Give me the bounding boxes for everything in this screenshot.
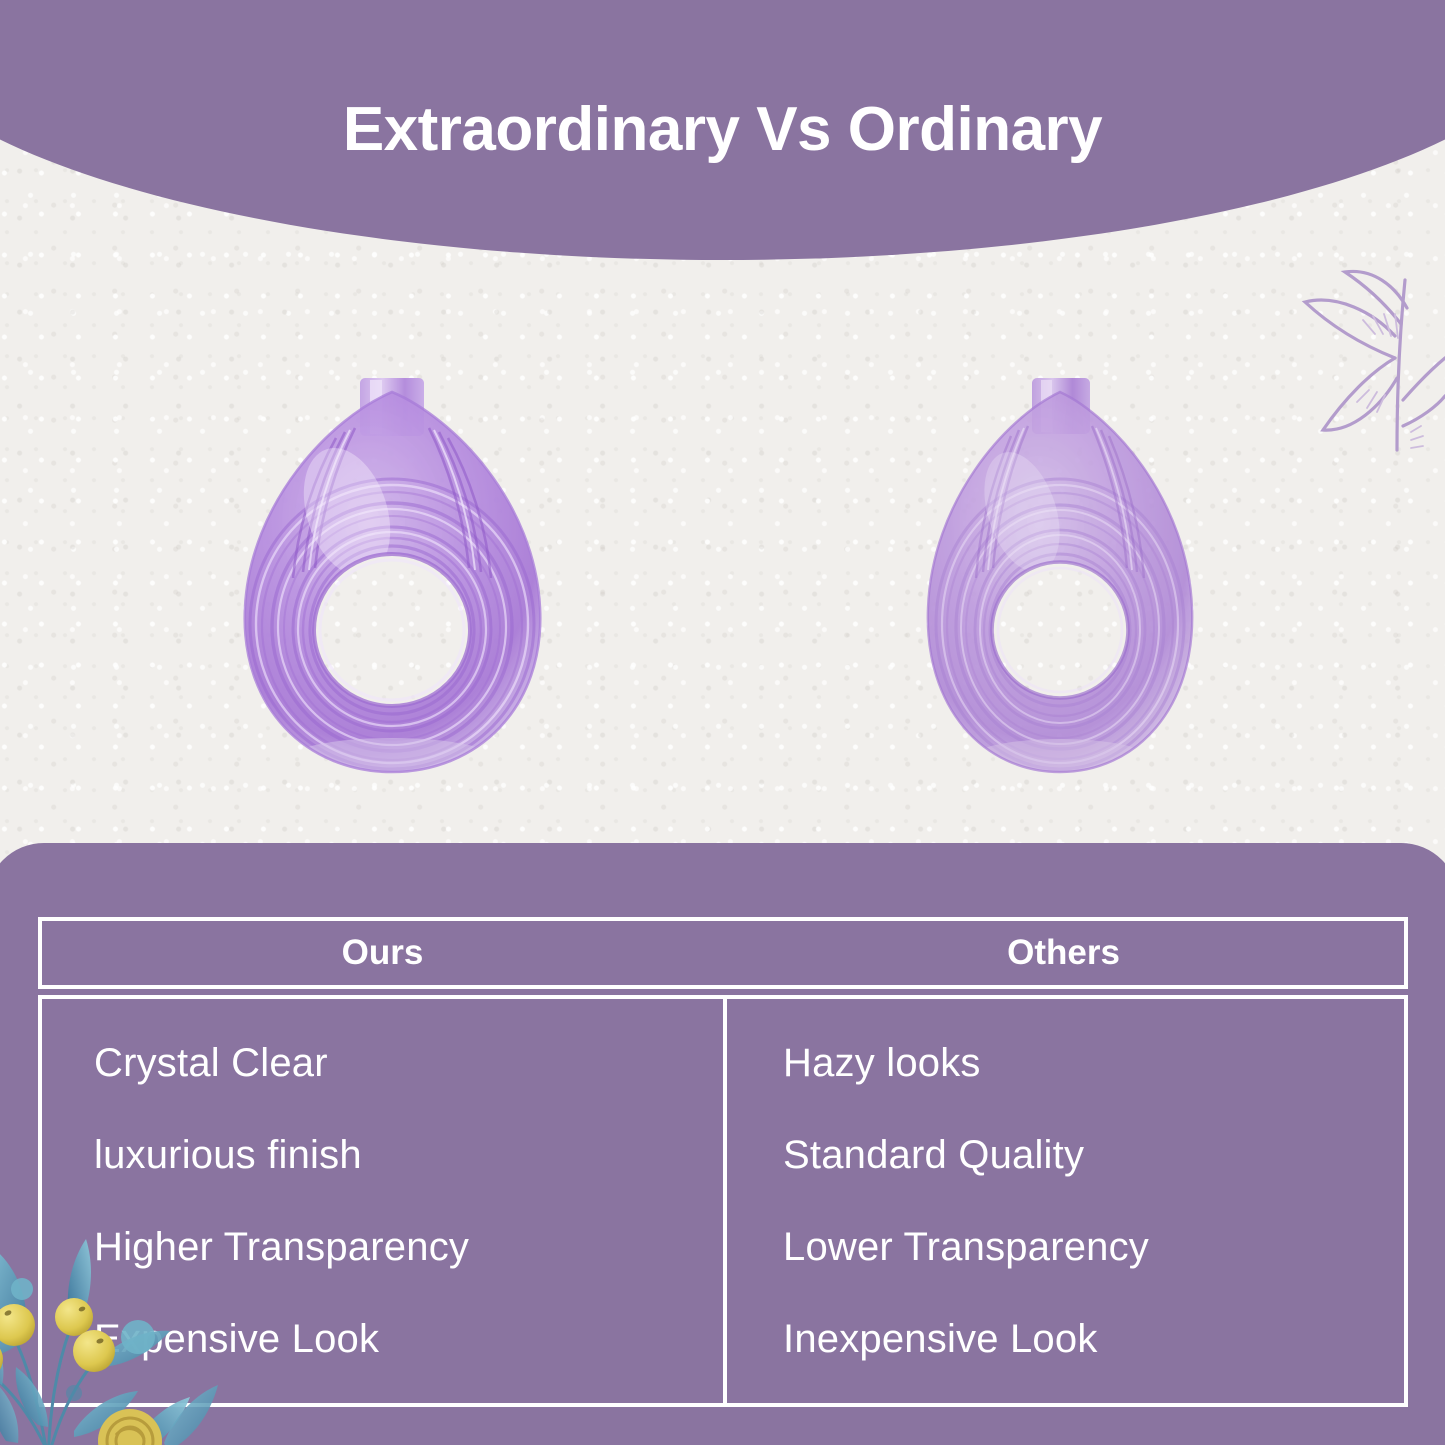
list-item: Lower Transparency [783,1225,1404,1269]
list-item: Inexpensive Look [783,1317,1404,1361]
column-header-ours: Ours [42,921,723,985]
column-header-others: Others [723,921,1404,985]
product-image-others [900,372,1220,790]
table-body: Crystal Clear luxurious finish Higher Tr… [38,995,1408,1407]
table-column-ours: Crystal Clear luxurious finish Higher Tr… [42,999,723,1403]
header-banner: Extraordinary Vs Ordinary [0,0,1445,260]
list-item: Standard Quality [783,1133,1404,1177]
list-item: luxurious finish [94,1133,723,1177]
list-item: Expensive Look [94,1317,723,1361]
list-item: Higher Transparency [94,1225,723,1269]
comparison-panel: Ours Others Crystal Clear luxurious fini… [0,843,1445,1445]
list-item: Hazy looks [783,1041,1404,1085]
product-image-ours [205,372,580,790]
list-item: Crystal Clear [94,1041,723,1085]
table-header-row: Ours Others [38,917,1408,989]
infographic-canvas: Extraordinary Vs Ordinary [0,0,1445,1445]
table-column-others: Hazy looks Standard Quality Lower Transp… [723,999,1404,1403]
page-title: Extraordinary Vs Ordinary [343,99,1102,161]
comparison-table: Ours Others Crystal Clear luxurious fini… [38,917,1408,1407]
